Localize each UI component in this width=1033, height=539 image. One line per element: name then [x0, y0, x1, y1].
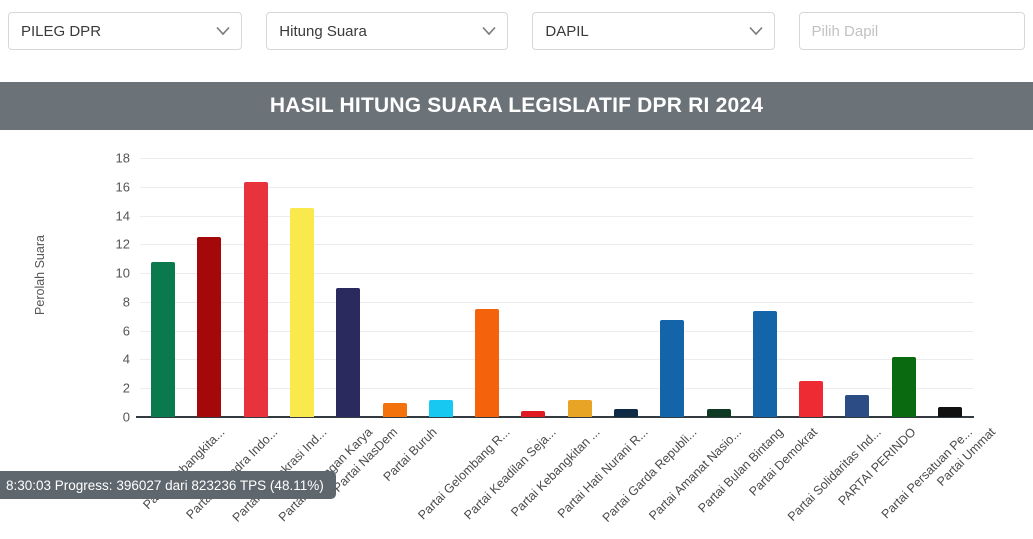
bar[interactable] — [799, 381, 823, 417]
page-title-banner: HASIL HITUNG SUARA LEGISLATIF DPR RI 202… — [0, 82, 1033, 130]
y-axis-title: Perolah Suara — [33, 235, 47, 315]
bar-slot — [140, 158, 186, 417]
bar[interactable] — [475, 309, 499, 417]
filter-wilayah-box[interactable]: DAPIL — [532, 12, 774, 50]
y-axis-tick: 12 — [116, 237, 130, 252]
bar-slot — [371, 158, 417, 417]
bar-slot — [279, 158, 325, 417]
bar[interactable] — [197, 237, 221, 417]
bar[interactable] — [753, 311, 777, 417]
filter-metode-value: Hitung Suara — [279, 23, 367, 40]
bar[interactable] — [707, 409, 731, 417]
bar-slot — [649, 158, 695, 417]
bar-slot — [186, 158, 232, 417]
y-axis-tick: 0 — [123, 410, 130, 425]
x-label-slot: Partai Amanat Nasio... — [649, 419, 695, 539]
x-label-slot: Partai Keadilan Seja... — [464, 419, 510, 539]
bar[interactable] — [336, 288, 360, 418]
x-label-slot: Partai Hati Nurani R... — [557, 419, 603, 539]
bar-slot — [742, 158, 788, 417]
x-label-slot: Partai Demokrat — [742, 419, 788, 539]
filter-dapil-placeholder: Pilih Dapil — [812, 23, 879, 40]
vote-count-dashboard: PILEG DPR Hitung Suara DAPIL Pil — [0, 0, 1033, 539]
filter-pemilihan-value: PILEG DPR — [21, 23, 101, 40]
progress-status-text: 8:30:03 Progress: 396027 dari 823236 TPS… — [6, 478, 324, 493]
filter-pemilihan-box[interactable]: PILEG DPR — [8, 12, 242, 50]
bar-slot — [695, 158, 741, 417]
bar[interactable] — [568, 400, 592, 417]
x-label-slot: Partai Persatuan Pe... — [881, 419, 927, 539]
x-label-slot: Partai Garda Republi... — [603, 419, 649, 539]
bar-slot — [881, 158, 927, 417]
bar-slot — [418, 158, 464, 417]
y-axis-tick: 10 — [116, 266, 130, 281]
bar-slot — [510, 158, 556, 417]
progress-status-toast: 8:30:03 Progress: 396027 dari 823236 TPS… — [0, 471, 336, 499]
filter-bar: PILEG DPR Hitung Suara DAPIL Pil — [0, 0, 1033, 62]
bar[interactable] — [151, 262, 175, 417]
bar-slot — [603, 158, 649, 417]
filter-wilayah[interactable]: DAPIL — [532, 12, 774, 50]
bar[interactable] — [845, 395, 869, 417]
y-axis-title-wrap: Perolah Suara — [0, 160, 80, 390]
bar[interactable] — [290, 208, 314, 417]
bar[interactable] — [660, 320, 684, 417]
x-label-slot: Partai Gelombang R... — [418, 419, 464, 539]
bar-slot — [927, 158, 973, 417]
bar[interactable] — [938, 407, 962, 417]
y-axis-tick: 16 — [116, 179, 130, 194]
bar[interactable] — [892, 357, 916, 417]
y-axis-tick: 18 — [116, 151, 130, 166]
bar[interactable] — [244, 182, 268, 417]
filter-wilayah-value: DAPIL — [545, 23, 588, 40]
bar[interactable] — [614, 409, 638, 417]
y-axis-tick: 14 — [116, 208, 130, 223]
bar-slot — [834, 158, 880, 417]
x-axis-tick-label: Partai Ummat — [934, 425, 998, 489]
page-title: HASIL HITUNG SUARA LEGISLATIF DPR RI 202… — [270, 94, 763, 118]
y-axis-tick: 6 — [123, 323, 130, 338]
filter-metode-box[interactable]: Hitung Suara — [266, 12, 508, 50]
x-label-slot: Partai Bulan Bintang — [695, 419, 741, 539]
y-axis-tick: 8 — [123, 294, 130, 309]
x-label-slot: PARTAI PERINDO — [834, 419, 880, 539]
bar-slot — [557, 158, 603, 417]
x-label-slot: Partai Buruh — [371, 419, 417, 539]
filter-pemilihan[interactable]: PILEG DPR — [8, 12, 242, 50]
bar-slot — [464, 158, 510, 417]
y-axis-tick: 2 — [123, 381, 130, 396]
x-label-slot: Partai Kebangkitan ... — [510, 419, 556, 539]
x-label-slot: Partai Solidaritas Ind... — [788, 419, 834, 539]
bar[interactable] — [521, 411, 545, 417]
filter-dapil-box[interactable]: Pilih Dapil — [799, 12, 1025, 50]
bar-slot — [788, 158, 834, 417]
x-label-slot: Partai Ummat — [927, 419, 973, 539]
filter-metode[interactable]: Hitung Suara — [266, 12, 508, 50]
y-axis-tick: 4 — [123, 352, 130, 367]
bar-slot — [233, 158, 279, 417]
filter-dapil[interactable]: Pilih Dapil — [799, 12, 1025, 50]
bar[interactable] — [383, 403, 407, 417]
plot-area: 024681012141618 — [140, 158, 973, 417]
bar-series — [140, 158, 973, 417]
bar-slot — [325, 158, 371, 417]
bar[interactable] — [429, 400, 453, 417]
